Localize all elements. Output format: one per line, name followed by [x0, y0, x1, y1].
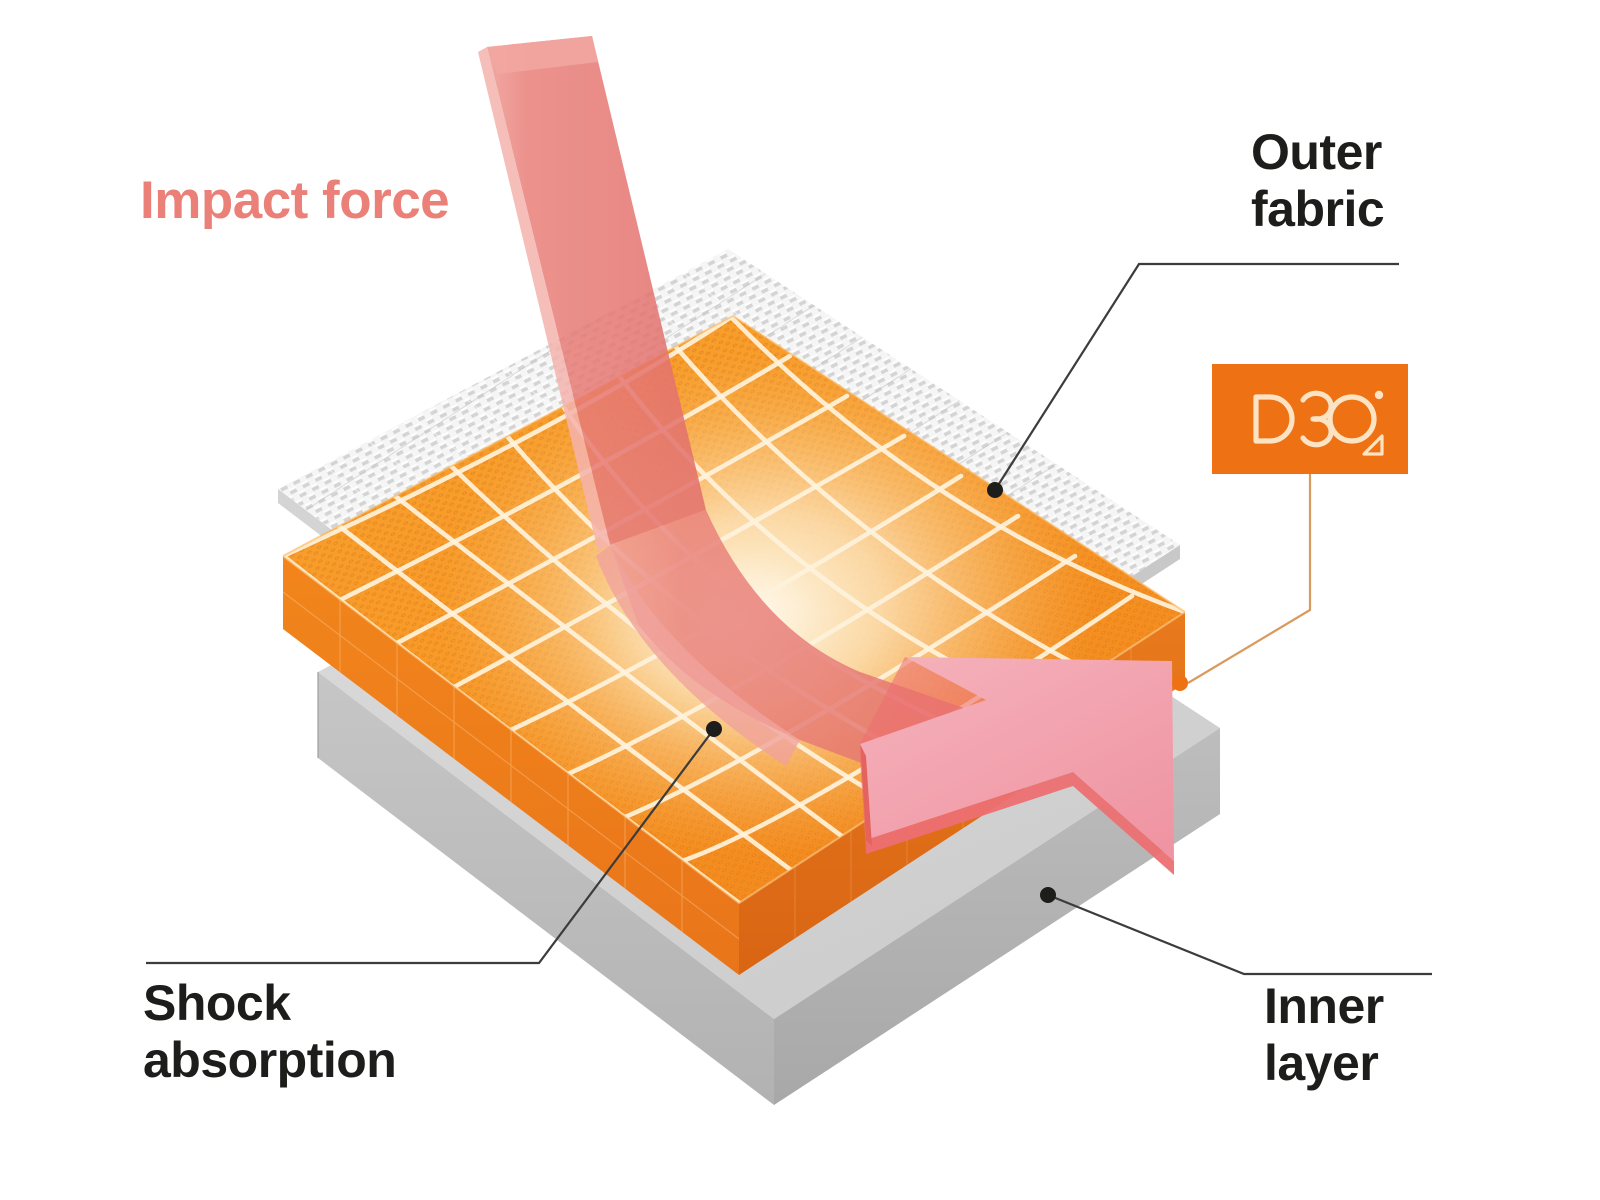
- inner-layer-label: Inner layer: [1264, 978, 1384, 1091]
- inner-layer-line-1: Inner: [1264, 978, 1384, 1035]
- shock-absorption-line-2: absorption: [143, 1032, 396, 1089]
- diagram-canvas: Impact force Outer fabric Inner layer Sh…: [0, 0, 1600, 1200]
- outer-fabric-label: Outer fabric: [1251, 124, 1384, 237]
- degree-dot-icon: [1375, 391, 1383, 399]
- d3o-leader: [1172, 474, 1310, 691]
- d3o-wordmark: [1212, 364, 1408, 474]
- shock-absorption-line-1: Shock: [143, 975, 396, 1032]
- outer-fabric-line-2: fabric: [1251, 181, 1384, 238]
- d3o-logo: [1212, 364, 1408, 474]
- inner-layer-line-2: layer: [1264, 1035, 1384, 1092]
- outer-fabric-line-1: Outer: [1251, 124, 1384, 181]
- impact-force-line-1: Impact force: [140, 172, 449, 229]
- shock-absorption-label: Shock absorption: [143, 975, 396, 1088]
- inner-layer-leader: [1040, 887, 1432, 974]
- impact-force-label: Impact force: [140, 172, 449, 229]
